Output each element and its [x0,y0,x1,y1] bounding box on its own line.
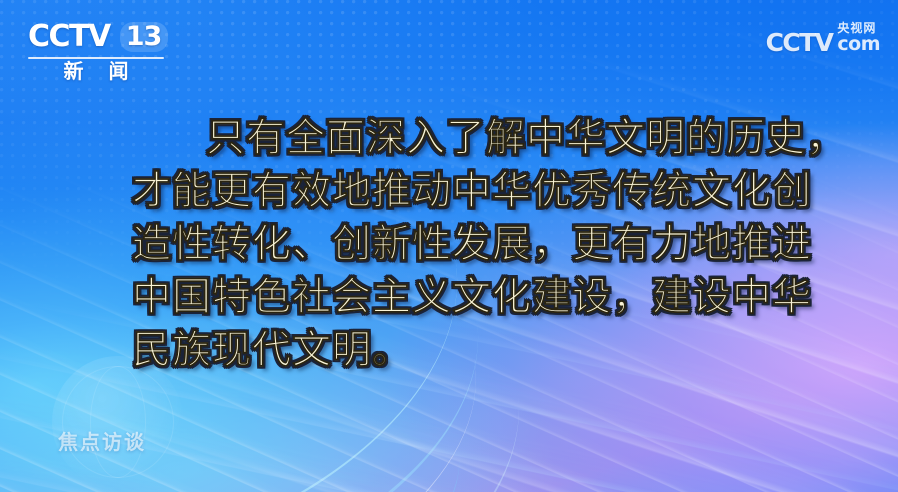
cctv-com-watermark: CCTV 央视网 com [766,22,880,55]
quote-line-5: 民族现代文明。 [132,324,782,377]
quote-line-2: 才能更有效地推动中华优秀传统文化创 [132,165,782,218]
program-name-watermark: 焦点访谈 [58,432,146,452]
cctv-wordmark: CCTV [28,22,110,52]
cctv-com-site-tld: com [837,35,880,54]
cctv-13-news-logo: CCTV 13 新 闻 [28,20,164,82]
logo-top-row: CCTV 13 [28,20,164,54]
channel-number-badge: 13 [120,22,169,52]
channel-name-label: 新 闻 [28,61,164,82]
quote-line-1: 只有全面深入了解中华文明的历史， [132,112,782,165]
quote-line-3: 造性转化、创新性发展，更有力地推进 [132,218,782,271]
quote-line-4: 中国特色社会主义文化建设，建设中华 [132,271,782,324]
quote-text-block: 只有全面深入了解中华文明的历史， 才能更有效地推动中华优秀传统文化创 造性转化、… [132,112,782,377]
cctv-com-right-stack: 央视网 com [837,22,880,55]
cctv-com-wordmark: CCTV [766,30,833,55]
broadcast-graphic-frame: CCTV 13 新 闻 CCTV 央视网 com 只有全面深入了解中华文明的历史… [0,0,898,492]
